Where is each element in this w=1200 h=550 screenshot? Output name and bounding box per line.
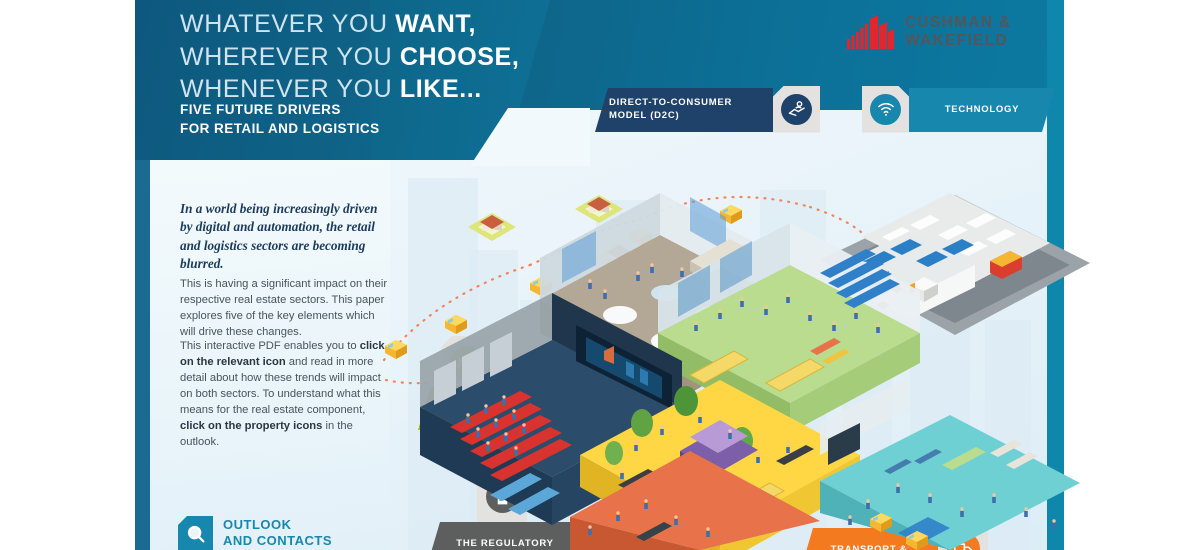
infographic-page: WHATEVER YOU WANT, WHEREVER YOU CHOOSE, … xyxy=(0,0,1200,550)
p2-part-a: This interactive PDF enables you to xyxy=(180,340,360,352)
isometric-retail-logistics-city[interactable] xyxy=(390,165,1090,550)
brand-line-2: WAKEFIELD xyxy=(905,32,1011,50)
magnifier-icon xyxy=(178,516,213,550)
subheadline-line-2: FOR RETAIL AND LOGISTICS xyxy=(180,119,510,138)
wifi-signal-icon xyxy=(870,94,901,125)
subheadline-line-1: FIVE FUTURE DRIVERS xyxy=(180,100,510,119)
left-white-margin xyxy=(0,0,135,550)
brand-line-1: CUSHMAN & xyxy=(905,14,1011,32)
headline-line-1: WHATEVER YOU WANT, xyxy=(180,8,580,41)
intro-lead-text: In a world being increasingly driven by … xyxy=(180,200,390,274)
brand-logo: CUSHMAN & WAKEFIELD xyxy=(847,14,1011,50)
outlook-line-2: AND CONTACTS xyxy=(223,533,332,549)
driver-chip-d2c[interactable]: DIRECT-TO-CONSUMER MODEL (D2C) xyxy=(595,88,820,132)
outlook-line-1: OUTLOOK xyxy=(223,517,332,533)
technology-label-banner[interactable]: TECHNOLOGY xyxy=(909,88,1055,132)
driver-chip-technology[interactable]: TECHNOLOGY xyxy=(862,88,1055,132)
d2c-icon-tile[interactable] xyxy=(773,86,820,133)
d2c-label-banner[interactable]: DIRECT-TO-CONSUMER MODEL (D2C) xyxy=(595,88,773,132)
page-subheadline: FIVE FUTURE DRIVERS FOR RETAIL AND LOGIS… xyxy=(180,100,510,138)
outlook-label: OUTLOOK AND CONTACTS xyxy=(223,517,332,548)
page-headline: WHATEVER YOU WANT, WHEREVER YOU CHOOSE, … xyxy=(180,8,580,106)
technology-label: TECHNOLOGY xyxy=(945,104,1020,117)
delivery-handoff-icon xyxy=(781,94,812,125)
brand-wordmark: CUSHMAN & WAKEFIELD xyxy=(905,14,1011,50)
d2c-label-line-1: DIRECT-TO-CONSUMER xyxy=(609,97,732,110)
outlook-and-contacts-link[interactable]: OUTLOOK AND CONTACTS xyxy=(178,516,332,550)
d2c-label-line-2: MODEL (D2C) xyxy=(609,110,732,123)
intro-paragraph-1: This is having a significant impact on t… xyxy=(180,276,392,340)
intro-paragraph-2: This interactive PDF enables you to clic… xyxy=(180,338,392,450)
p2-bold-property: click on the property icons xyxy=(180,420,322,432)
office-floor xyxy=(820,377,1080,550)
technology-icon-tile[interactable] xyxy=(862,86,909,133)
headline-line-2: WHEREVER YOU CHOOSE, xyxy=(180,41,580,74)
building-bars-icon xyxy=(847,15,894,49)
